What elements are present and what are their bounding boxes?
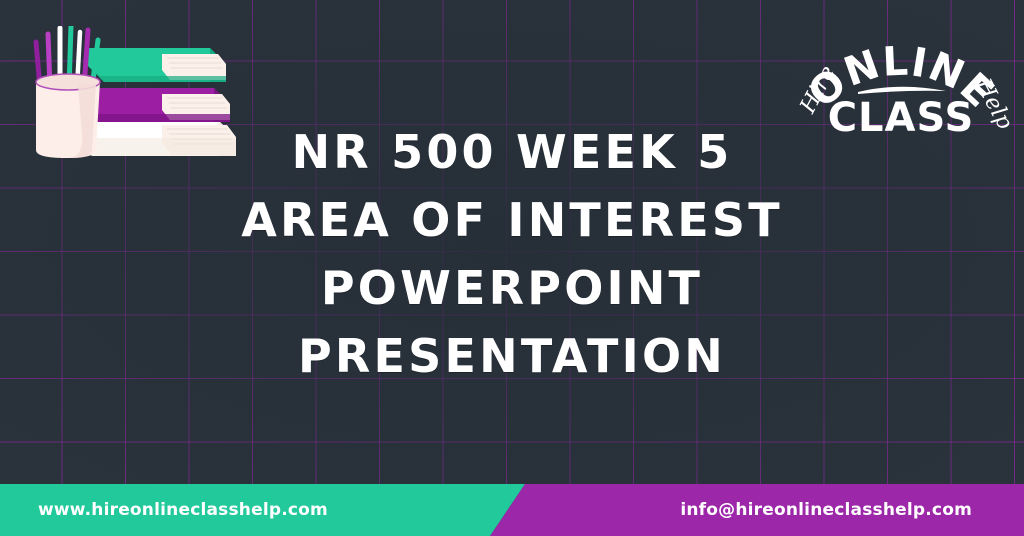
title-line-1: NR 500 WEEK 5 [120, 118, 904, 186]
title-line-2: AREA OF INTEREST [120, 186, 904, 254]
footer-bar: www.hireonlineclasshelp.com info@hireonl… [0, 484, 1024, 536]
book-top-icon [88, 48, 226, 82]
footer-website-link[interactable]: www.hireonlineclasshelp.com [38, 484, 328, 536]
promo-banner: Hire ONLINE CLASS Help NR 500 WEEK 5 ARE… [0, 0, 1024, 536]
page-title: NR 500 WEEK 5 AREA OF INTEREST POWERPOIN… [0, 118, 1024, 390]
book-middle-icon [80, 88, 230, 122]
title-line-3: POWERPOINT [120, 254, 904, 322]
title-line-4: PRESENTATION [120, 322, 904, 390]
footer-email-link[interactable]: info@hireonlineclasshelp.com [680, 484, 972, 536]
